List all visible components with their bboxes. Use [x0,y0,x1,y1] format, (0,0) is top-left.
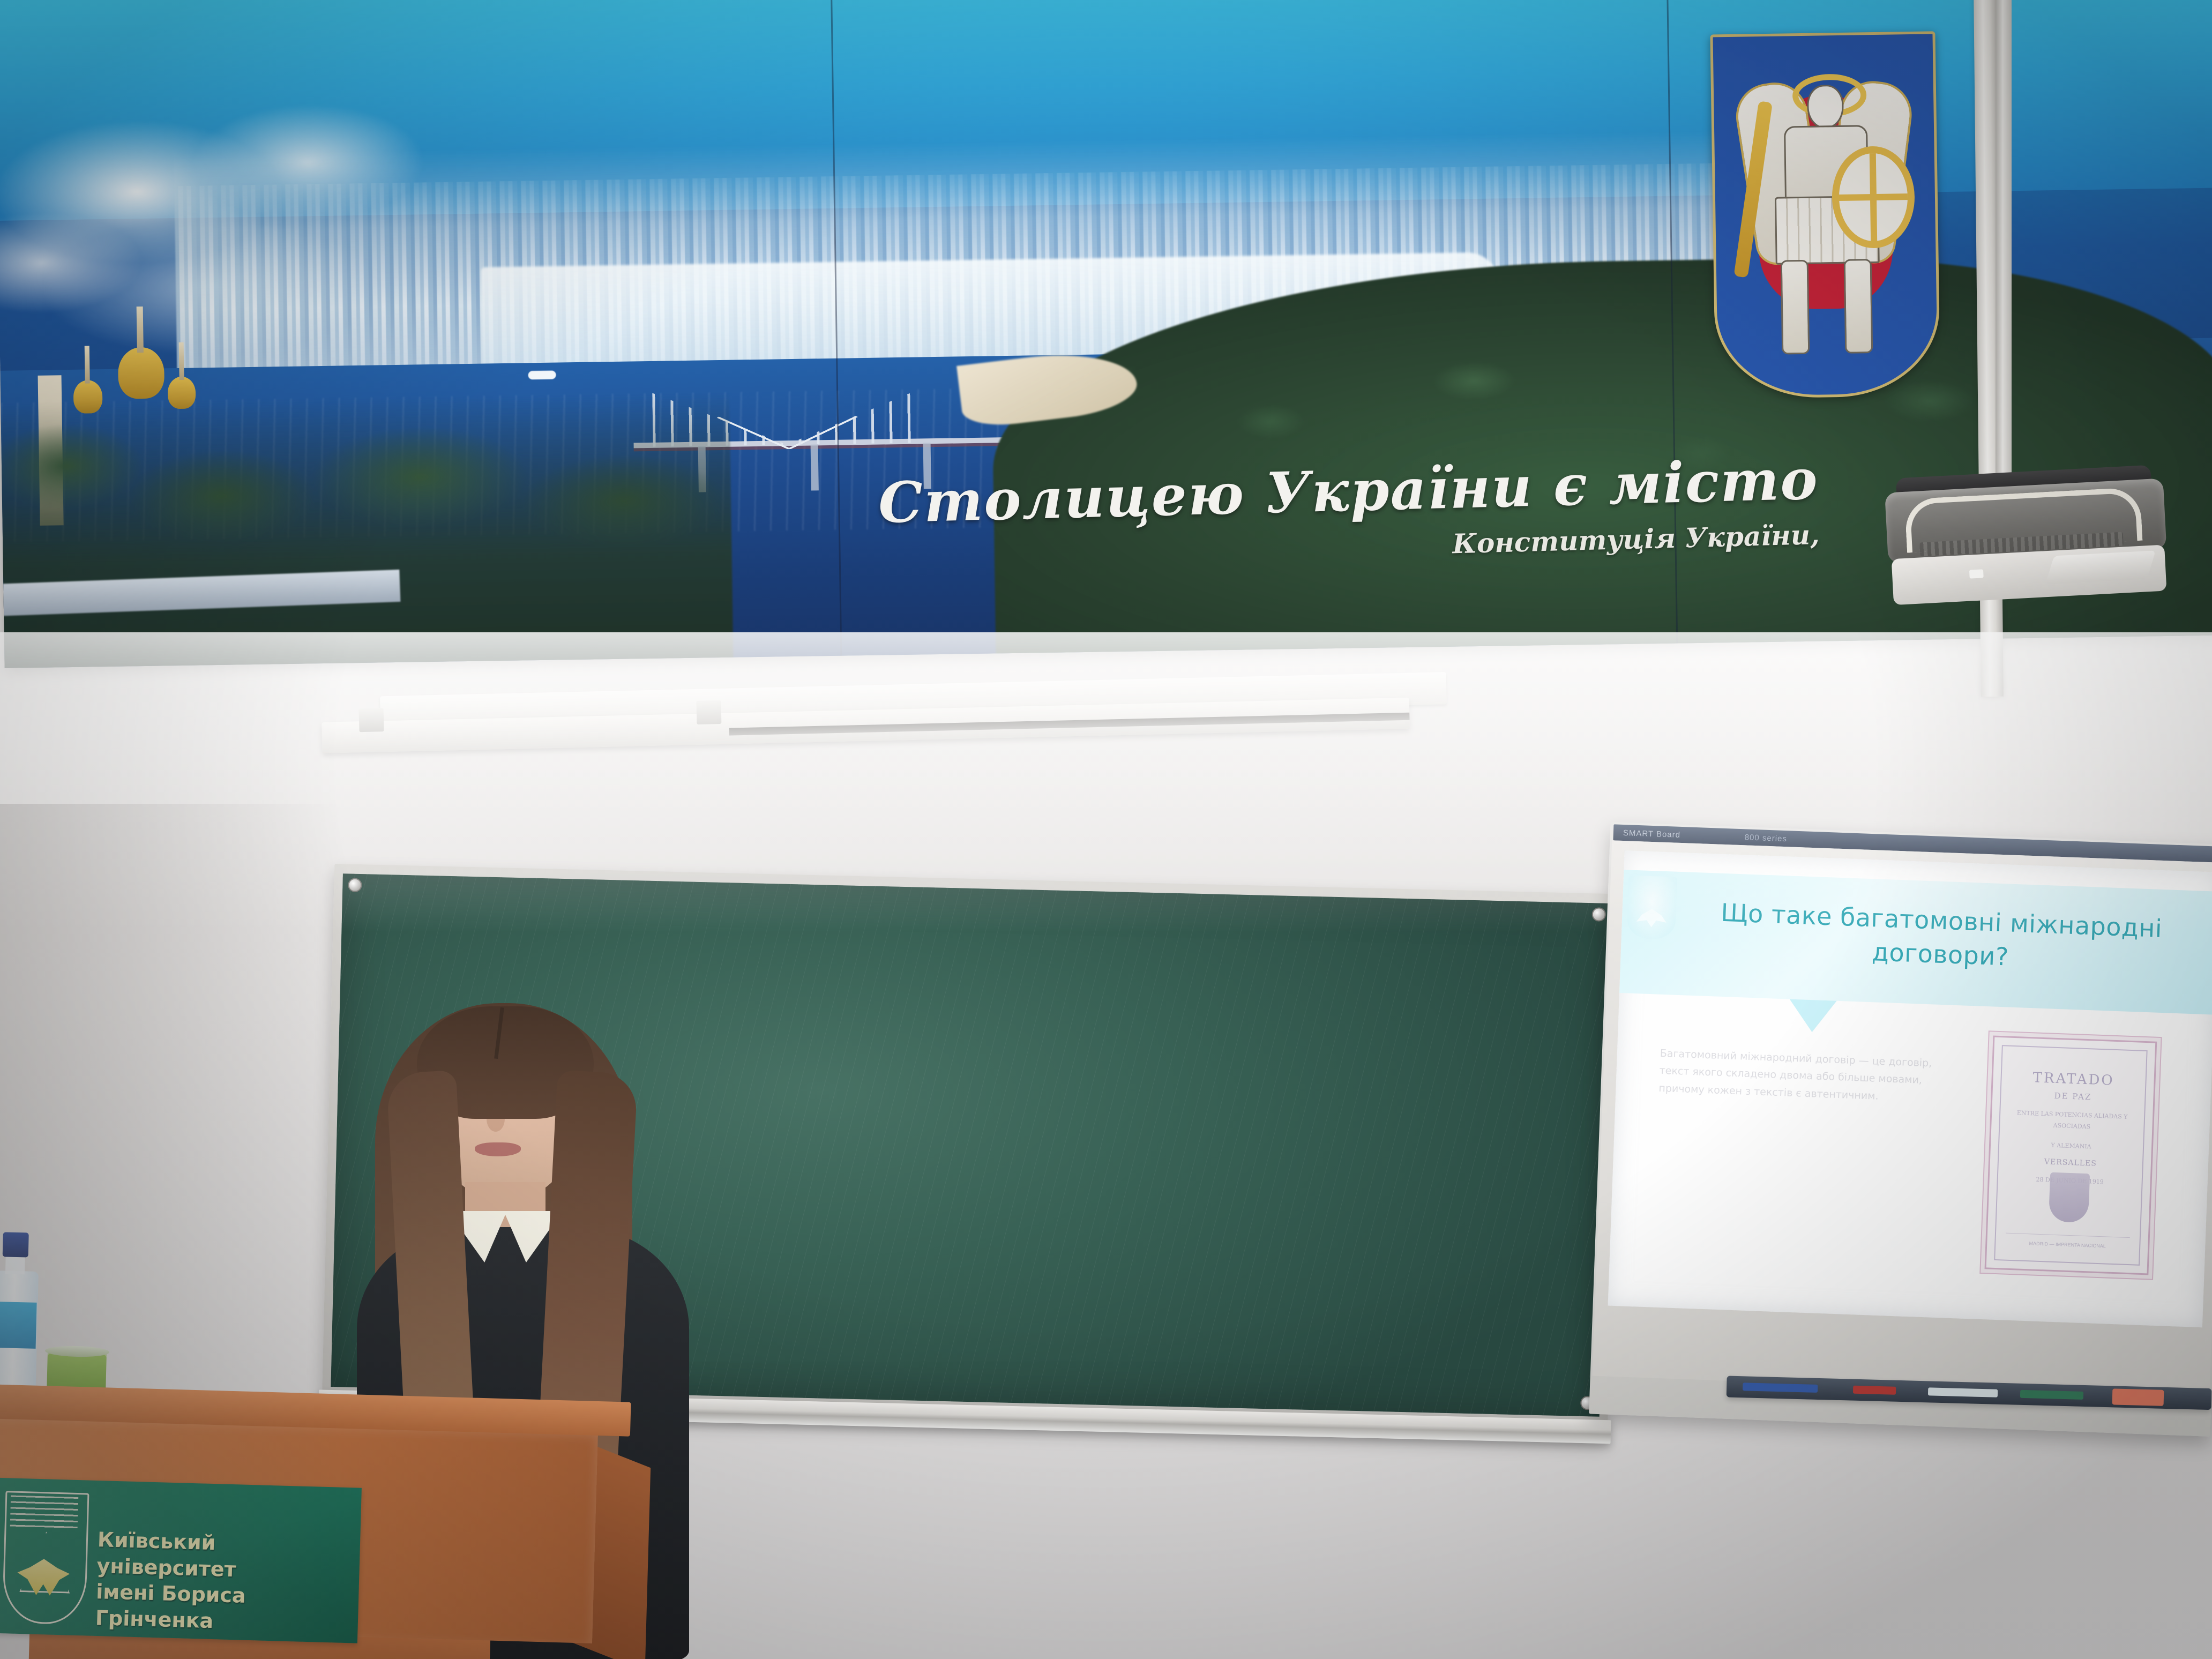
projected-slide[interactable]: Що таке багатомовні міжнародні договори?… [1608,850,2212,1327]
pen-green[interactable] [2020,1390,2083,1400]
whiteboard-model-label: 800 series [1744,833,1787,843]
treaty-title-line4: Y ALEMANIA [2005,1138,2138,1154]
church-spire [137,307,144,353]
slide-bubble-tail [1789,999,1837,1033]
treaty-title-line2: DE PAZ [2006,1089,2139,1104]
pen-orange[interactable] [2112,1388,2164,1406]
kyiv-coat-of-arms-icon [1710,31,1940,399]
treaty-footer: MADRID — IMPRENTA NACIONAL [2005,1233,2130,1252]
projector-mount-arm [1996,0,2012,482]
treaty-document-inner: TRATADO DE PAZ ENTRE LAS POTENCIAS ALIAD… [1994,1045,2148,1266]
whiteboard-brand-label: SMART Board [1623,828,1681,840]
golden-dome [118,347,165,399]
university-watermark-icon [1627,875,1677,940]
church-spire [179,342,184,380]
slide-body-text: Багатомовний міжнародний договір — це до… [1658,1045,1960,1108]
banner-left-trees [0,392,734,668]
bridge-pier [811,444,819,490]
kyiv-wall-banner: Столицею України є місто Конституція Укр… [0,0,2212,668]
pen-red[interactable] [1853,1386,1896,1395]
pen-white[interactable] [1928,1387,1998,1397]
archangel-leg [1781,260,1810,355]
ceiling-projector [1884,465,2169,613]
roller-bracket [696,700,721,724]
interactive-whiteboard[interactable]: SMART Board 800 series Що таке багатомов… [1589,822,2212,1437]
roller-bracket [359,708,384,732]
treaty-title-line5: VERSALLES [2004,1156,2137,1169]
archangel-leg [1844,259,1873,354]
watermark-leaf-icon [1636,908,1667,928]
treaty-title-line3: ENTRE LAS POTENCIAS ALIADAS Y ASOCIADAS [2005,1108,2139,1135]
classroom-photo: Столицею України є місто Конституція Укр… [0,0,2212,1659]
wall-shadow [0,804,343,1659]
presenter-mouth [475,1142,521,1156]
projector-lens [2045,550,2156,584]
church-spire [85,346,90,383]
projector-led-icon [1969,569,1984,578]
treaty-title-line1: TRATADO [2007,1069,2140,1090]
pen-blue[interactable] [1743,1382,1818,1393]
treaty-document-image: TRATADO DE PAZ ENTRE LAS POTENCIAS ALIAD… [1985,1036,2157,1275]
banner-white-boat [528,371,556,380]
treaty-crest-icon [2049,1172,2090,1223]
